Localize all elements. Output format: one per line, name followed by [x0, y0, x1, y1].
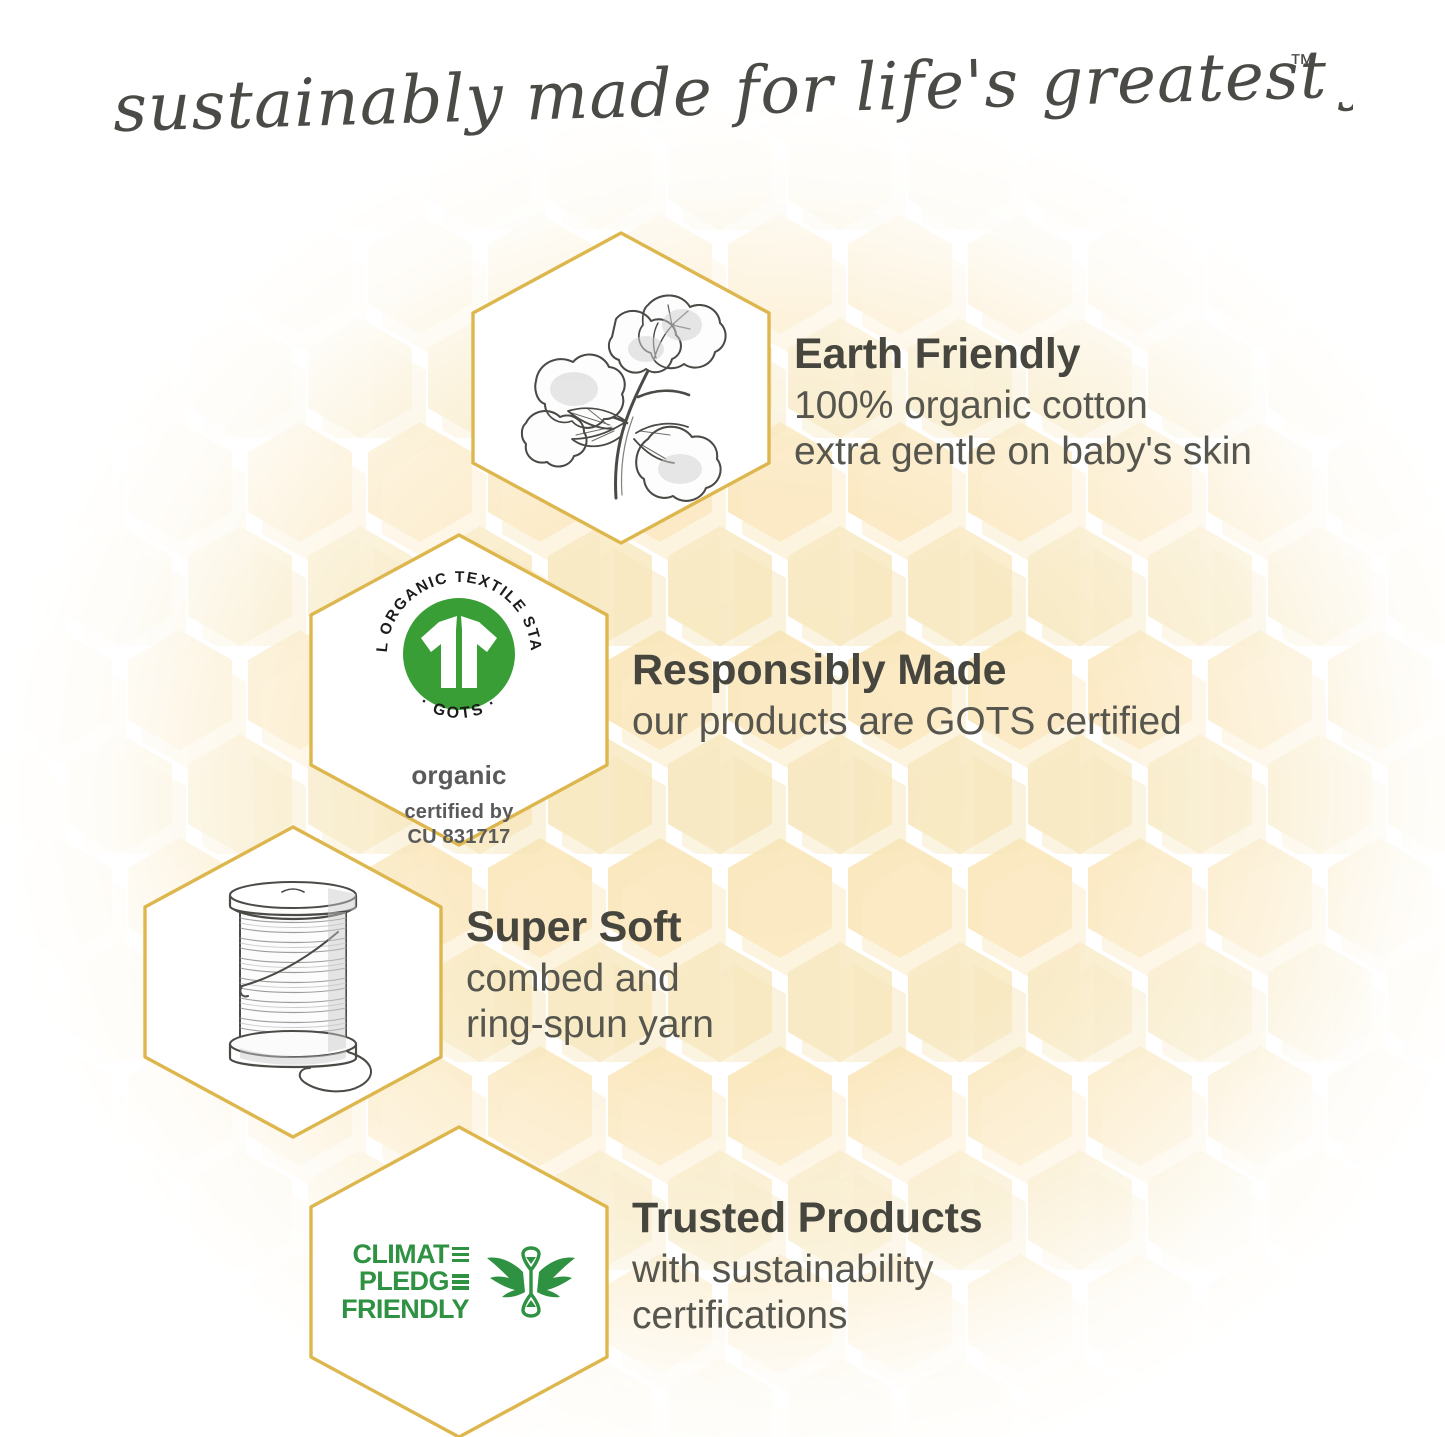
feature-text-trusted-products: Trusted Products with sustainability cer… — [632, 1196, 982, 1340]
hex-card-trusted-products: CLIMAT PLEDG FRIENDLY — [304, 1122, 614, 1437]
feature-text-super-soft: Super Soft combed and ring-spun yarn — [466, 905, 714, 1049]
svg-text:sustainably made for life's gr: sustainably made for life's greatest joy — [112, 36, 1353, 146]
thread-spool-illustration — [138, 822, 448, 1142]
feature-title: Responsibly Made — [632, 648, 1182, 694]
hex-card-earth-friendly — [466, 228, 776, 548]
feature-title: Earth Friendly — [794, 332, 1252, 378]
cpf-line-3: FRIENDLY — [341, 1296, 469, 1324]
feature-line: our products are GOTS certified — [632, 699, 1182, 746]
cpf-bars-icon — [452, 1247, 469, 1262]
hex-card-super-soft — [138, 822, 448, 1142]
feature-line: combed and — [466, 956, 714, 1003]
feature-line: 100% organic cotton — [794, 383, 1252, 430]
feature-line: certifications — [632, 1293, 982, 1340]
feature-line: extra gentle on baby's skin — [794, 429, 1252, 476]
cpf-line-1: CLIMAT — [352, 1241, 448, 1269]
feature-title: Super Soft — [466, 905, 714, 951]
feature-text-earth-friendly: Earth Friendly 100% organic cotton extra… — [794, 332, 1252, 476]
gots-organic-label: organic — [411, 760, 506, 791]
winged-hourglass-icon — [485, 1244, 577, 1320]
cpf-line-2: PLEDG — [359, 1268, 449, 1296]
gots-seal-icon: GLOBAL ORGANIC TEXTILE STANDARD · GOTS · — [365, 560, 553, 748]
page-headline: sustainably made for life's greatest joy… — [0, 36, 1445, 151]
hex-card-responsibly-made: GLOBAL ORGANIC TEXTILE STANDARD · GOTS ·… — [304, 530, 614, 850]
feature-line: with sustainability — [632, 1247, 982, 1294]
cotton-plant-illustration — [466, 228, 776, 548]
cpf-bars-icon — [452, 1274, 469, 1289]
feature-line: ring-spun yarn — [466, 1002, 714, 1049]
infographic-canvas: sustainably made for life's greatest joy… — [0, 0, 1445, 1437]
gots-organic-certification-logo: GLOBAL ORGANIC TEXTILE STANDARD · GOTS ·… — [304, 530, 614, 850]
feature-title: Trusted Products — [632, 1196, 982, 1242]
feature-text-responsibly-made: Responsibly Made our products are GOTS c… — [632, 648, 1182, 745]
svg-text:™: ™ — [1289, 48, 1315, 78]
climate-pledge-friendly-logo: CLIMAT PLEDG FRIENDLY — [304, 1122, 614, 1437]
